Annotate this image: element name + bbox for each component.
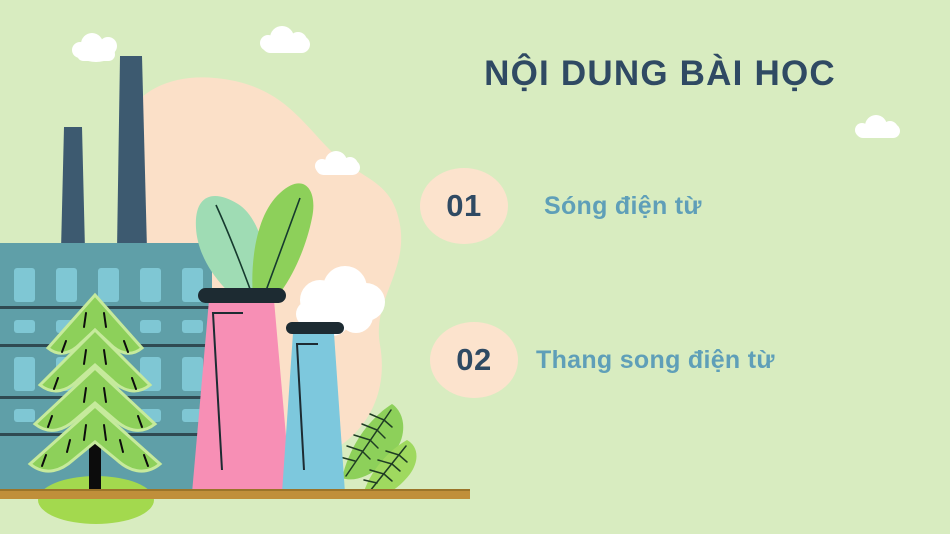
chimney-short <box>61 127 85 250</box>
agenda-item-01[interactable]: 01 Sóng điện từ <box>420 168 702 244</box>
agenda-number-badge-01: 01 <box>420 168 508 244</box>
agenda-number-02: 02 <box>456 342 491 378</box>
content-column: NỘI DUNG BÀI HỌC 01 Sóng điện từ 02 Than… <box>410 0 950 534</box>
agenda-item-02[interactable]: 02 Thang song điện từ <box>430 322 775 398</box>
eco-factory-illustration <box>0 0 470 534</box>
slide-canvas: NỘI DUNG BÀI HỌC 01 Sóng điện từ 02 Than… <box>0 0 950 534</box>
ground-line-shadow <box>0 489 470 491</box>
page-title: NỘI DUNG BÀI HỌC <box>410 55 910 94</box>
agenda-label-02: Thang song điện từ <box>536 346 775 375</box>
cloud-top-left <box>72 33 117 62</box>
ground-line <box>0 490 470 499</box>
agenda-number-badge-02: 02 <box>430 322 518 398</box>
agenda-number-01: 01 <box>446 188 481 224</box>
agenda-label-01: Sóng điện từ <box>544 192 702 221</box>
chimney-tall <box>117 56 147 250</box>
